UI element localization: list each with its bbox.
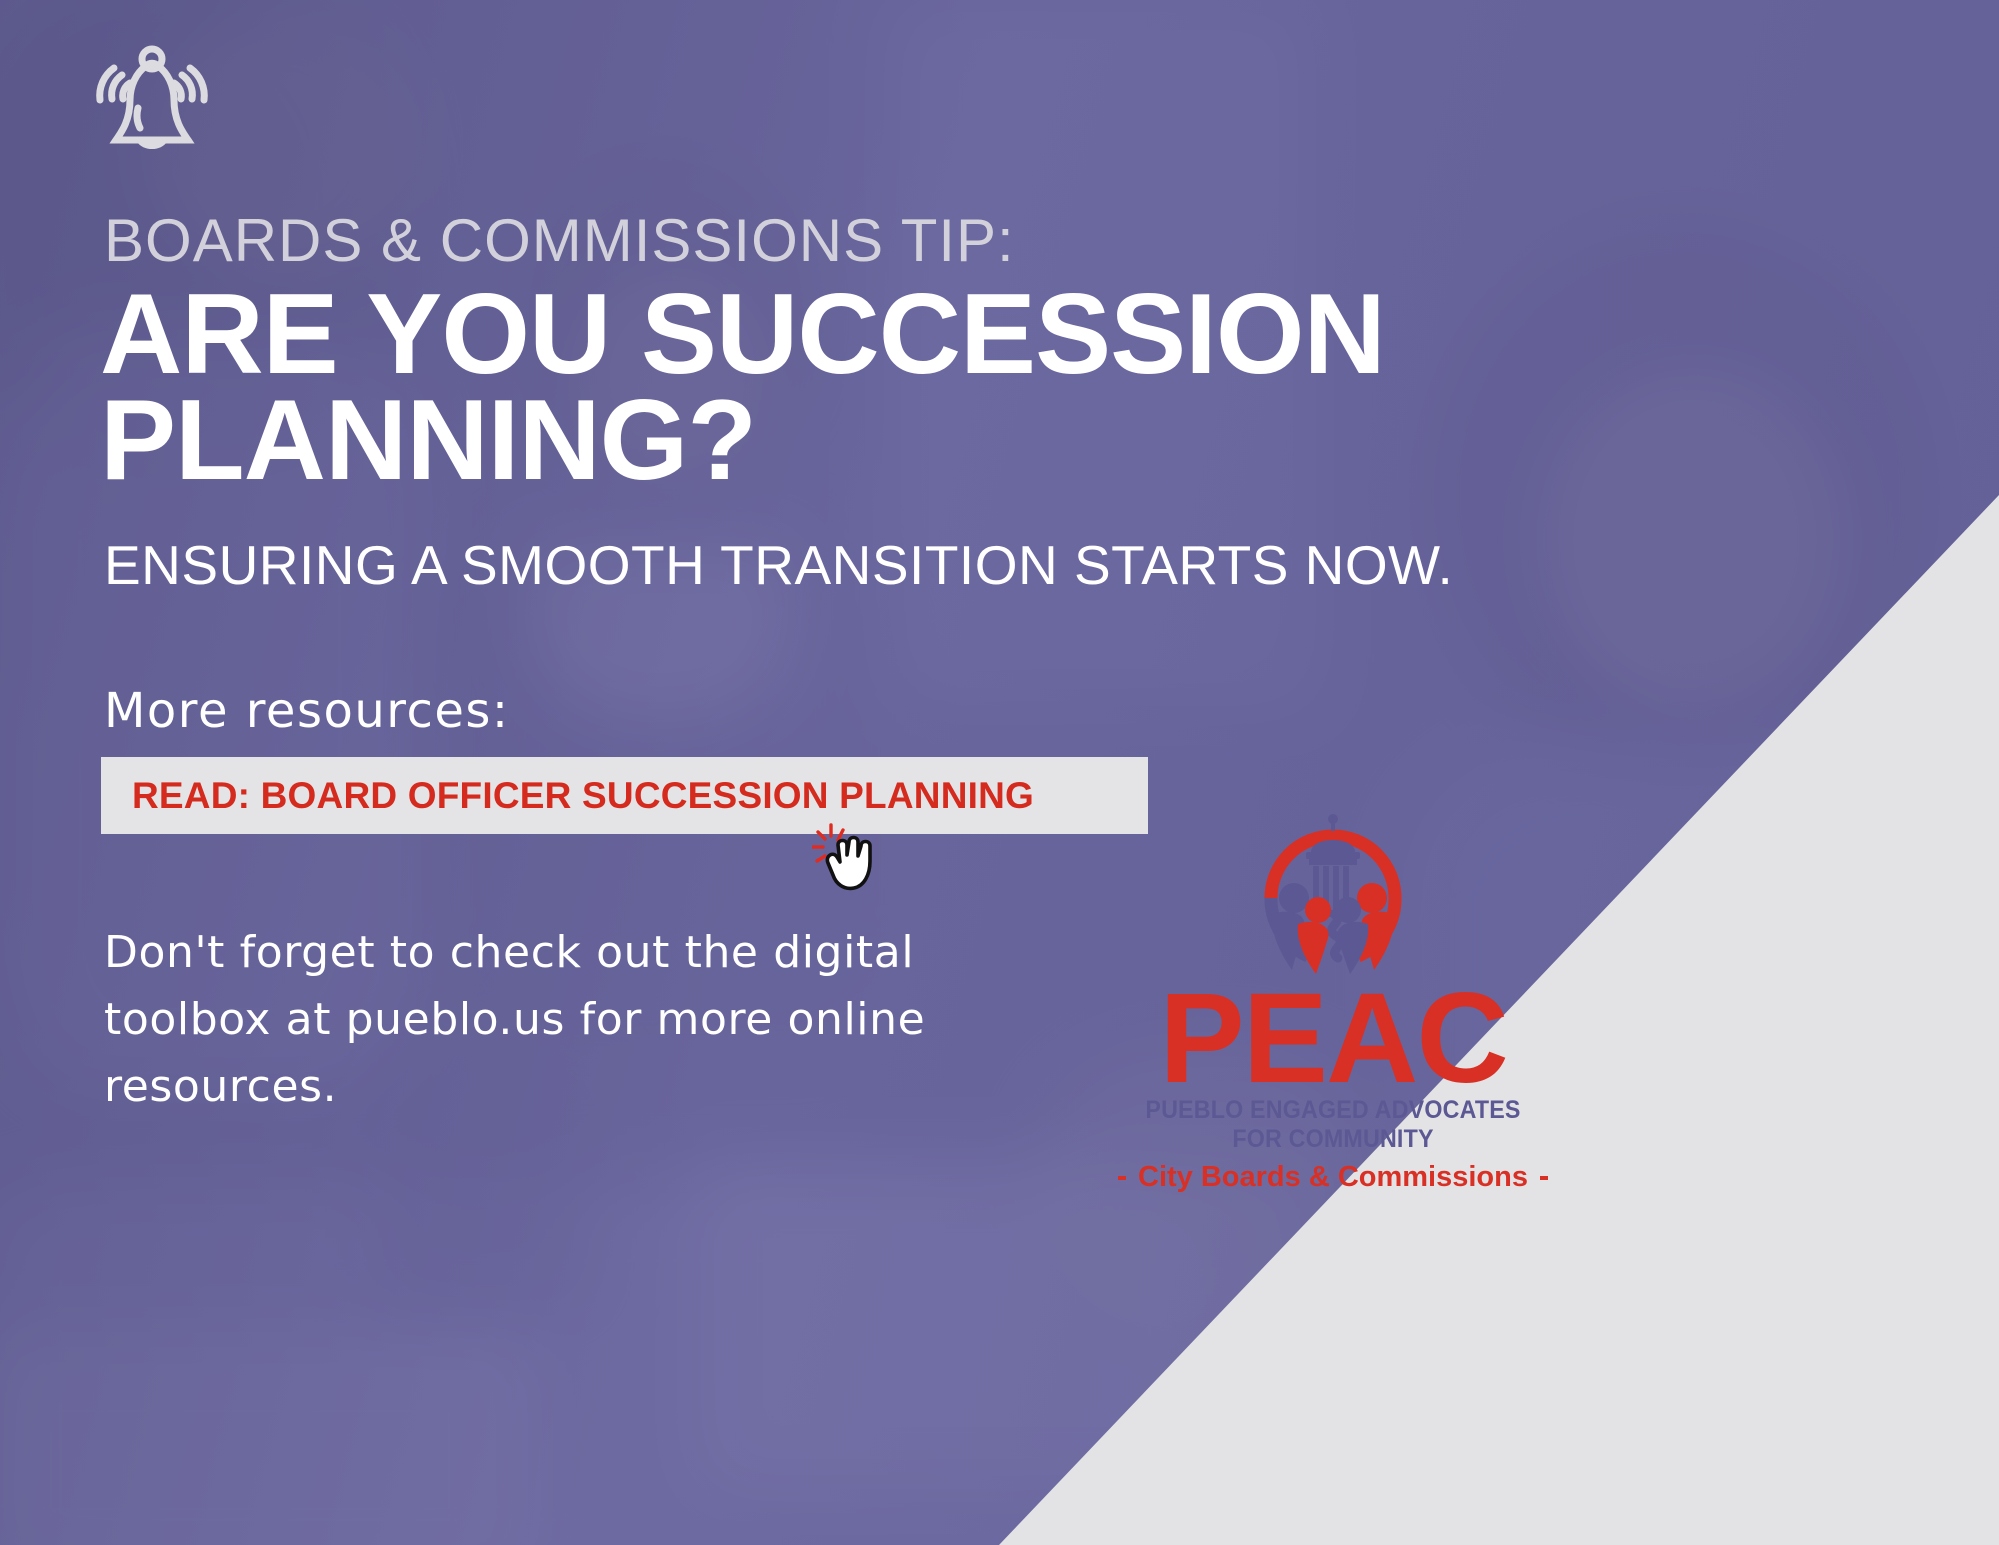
subheadline-text: ENSURING A SMOOTH TRANSITION STARTS NOW.	[104, 533, 1453, 597]
peac-logo: PEAC PUEBLO ENGAGED ADVOCATES FOR COMMUN…	[1118, 810, 1548, 1194]
rule-left	[1118, 1176, 1126, 1180]
peac-subtitle: City Boards & Commissions	[1138, 1161, 1528, 1194]
rule-right	[1540, 1176, 1548, 1180]
peac-capitol-people-logo-icon	[1238, 810, 1428, 982]
page-title: ARE YOU SUCCESSION PLANNING?	[100, 282, 1520, 494]
poster-canvas: BOARDS & COMMISSIONS TIP: ARE YOU SUCCES…	[0, 0, 1999, 1545]
more-resources-label: More resources:	[104, 683, 510, 739]
eyebrow-text: BOARDS & COMMISSIONS TIP:	[104, 206, 1015, 275]
headline-line-1: ARE YOU SUCCESSION	[100, 282, 1520, 388]
read-succession-planning-button[interactable]: READ: BOARD OFFICER SUCCESSION PLANNING	[101, 757, 1148, 834]
peac-tagline: PUEBLO ENGAGED ADVOCATES FOR COMMUNITY	[1133, 1096, 1533, 1154]
headline-line-2: PLANNING?	[100, 388, 1520, 494]
peac-subtitle-row: City Boards & Commissions	[1118, 1161, 1548, 1194]
body-copy-text: Don't forget to check out the digital to…	[104, 920, 984, 1121]
cta-button-label: READ: BOARD OFFICER SUCCESSION PLANNING	[101, 775, 1034, 817]
click-hand-cursor-icon	[812, 820, 886, 892]
peac-wordmark: PEAC	[1118, 984, 1548, 1094]
notification-bell-icon	[78, 38, 258, 188]
